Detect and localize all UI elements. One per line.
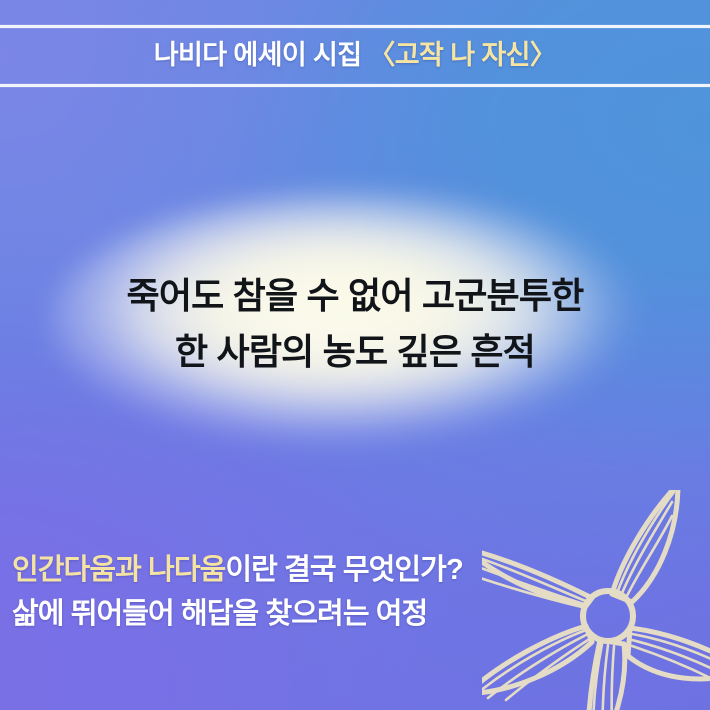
bottom-copy: 인간다움과 나다움이란 결국 무엇인가? 삶에 뛰어들어 해답을 찾으려는 여정 <box>12 548 572 636</box>
page-title: 나비다 에세이 시집 〈고작 나 자신〉 <box>0 33 710 77</box>
quote-line-2: 한 사람의 농도 깊은 흔적 <box>0 324 710 380</box>
bottom-line-1-rest: 이란 결국 무엇인가? <box>225 554 462 586</box>
main-quote: 죽어도 참을 수 없어 고군분투한 한 사람의 농도 깊은 흔적 <box>0 268 710 380</box>
header-band: 나비다 에세이 시집 〈고작 나 자신〉 <box>0 0 710 112</box>
bottom-line-1: 인간다움과 나다움이란 결국 무엇인가? <box>12 548 572 592</box>
bottom-line-2: 삶에 뛰어들어 해답을 찾으려는 여정 <box>12 592 572 636</box>
header-title-main: 나비다 에세이 시집 <box>154 40 369 70</box>
header-divider-top <box>0 25 710 28</box>
quote-line-1: 죽어도 참을 수 없어 고군분투한 <box>0 268 710 324</box>
header-title-book: 〈고작 나 자신〉 <box>368 40 556 70</box>
bottom-line-1-highlight: 인간다움과 나다움 <box>12 554 225 586</box>
header-divider-bottom <box>0 84 710 87</box>
poster-card: 나비다 에세이 시집 〈고작 나 자신〉 죽어도 참을 수 없어 고군분투한 한… <box>0 0 710 710</box>
